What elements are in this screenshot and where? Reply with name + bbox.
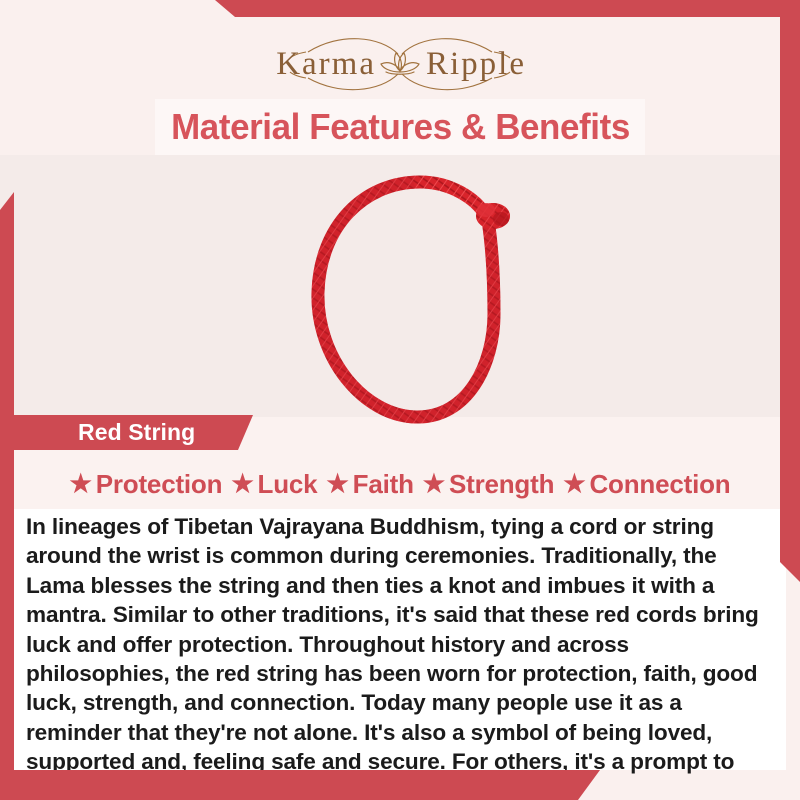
section-label-banner: Red String (14, 415, 253, 450)
star-icon: ★ (423, 472, 445, 497)
page-title: Material Features & Benefits (171, 106, 630, 148)
feature-label: Strength (449, 469, 554, 500)
description-text: In lineages of Tibetan Vajrayana Buddhis… (26, 512, 776, 800)
star-icon: ★ (231, 472, 253, 497)
star-icon: ★ (70, 472, 92, 497)
feature-label: Luck (258, 469, 318, 500)
karma-ripple-logo-icon: Karma Ripple (190, 34, 610, 94)
section-label-text: Red String (14, 419, 195, 446)
decor-right-red-bar (780, 0, 800, 582)
decor-top-red-band (215, 0, 800, 17)
brand-word-two: Ripple (426, 46, 526, 82)
feature-list: ★ Protection ★ Luck ★ Faith ★ Strength ★… (0, 463, 800, 505)
feature-item-faith: ★ Faith (326, 469, 413, 500)
brand-word-one: Karma (276, 46, 376, 82)
feature-label: Protection (96, 469, 223, 500)
product-image-red-string-bracelet (280, 168, 540, 433)
feature-item-connection: ★ Connection (563, 469, 730, 500)
braided-cord-loop-icon (280, 168, 540, 433)
feature-label: Connection (589, 469, 730, 500)
feature-label: Faith (353, 469, 414, 500)
feature-item-luck: ★ Luck (231, 469, 317, 500)
feature-item-protection: ★ Protection (70, 469, 223, 500)
brand-logo: Karma Ripple (0, 34, 800, 94)
star-icon: ★ (563, 472, 585, 497)
star-icon: ★ (326, 472, 348, 497)
title-banner: Material Features & Benefits (155, 99, 645, 155)
decor-bottom-red-band (0, 770, 600, 800)
decor-left-red-bar (0, 192, 14, 800)
feature-item-strength: ★ Strength (423, 469, 555, 500)
infographic-page: Karma Ripple Material Features & Benefit… (0, 0, 800, 800)
